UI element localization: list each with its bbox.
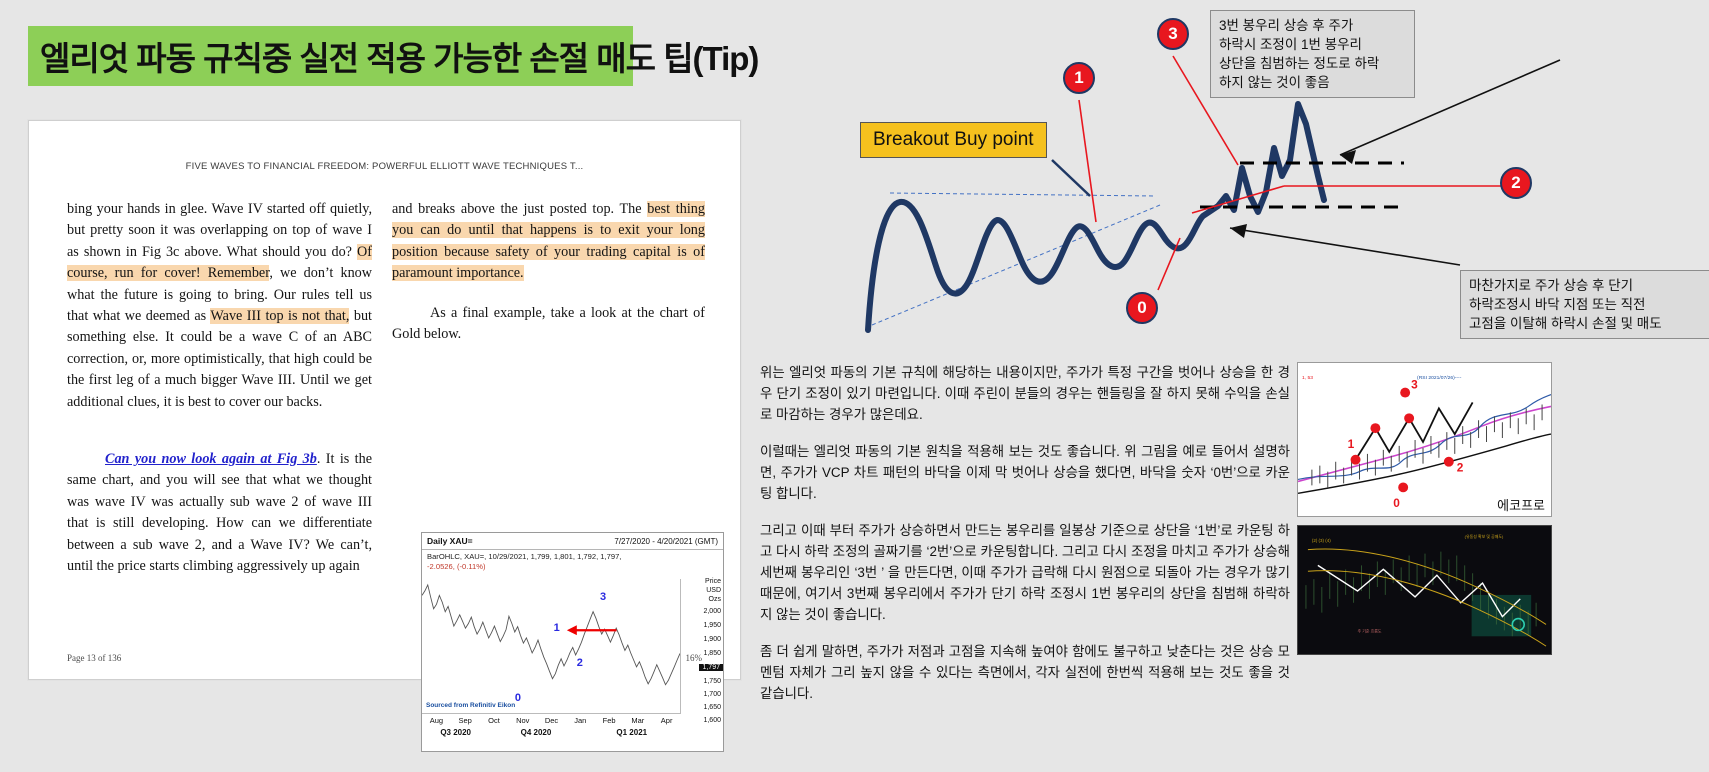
axis-unit-ozs: Ozs bbox=[709, 596, 721, 603]
ytick-1850: 1,850 bbox=[703, 650, 721, 657]
callout-arrow-bottom-head bbox=[1230, 224, 1247, 238]
elliott-wave-diagram: Breakout Buy point 1 3 0 2 3번 봉우리 상승 후 주… bbox=[760, 0, 1709, 355]
axis-unit-price: Price bbox=[705, 578, 721, 585]
kr-paragraph-4: 좀 더 쉽게 말하면, 주가가 저점과 고점을 지속해 높여야 함에도 불구하고… bbox=[760, 641, 1290, 704]
ytick-1900: 1,900 bbox=[703, 636, 721, 643]
svg-text:(2) (3) (4): (2) (3) (4) bbox=[1312, 538, 1331, 543]
chart-ohlc: BarOHLC, XAU=, 10/29/2021, 1,799, 1,801,… bbox=[427, 552, 718, 562]
document-column-right: and breaks above the just posted top. Th… bbox=[392, 199, 705, 345]
kr-paragraph-2: 이럴때는 엘리엇 파동의 기본 원칙을 적용해 보는 것도 좋습니다. 위 그림… bbox=[760, 441, 1290, 504]
chart-quote-line: BarOHLC, XAU=, 10/29/2021, 1,799, 1,801,… bbox=[422, 550, 723, 572]
breakout-buy-point-box: Breakout Buy point bbox=[860, 122, 1047, 158]
document-zoom-level: 16% bbox=[686, 653, 703, 663]
chart-month-ticks: Aug Sep Oct Nov Dec Jan Feb Mar Apr bbox=[422, 714, 681, 725]
chart-change: -2.0526, (-0.11%) bbox=[427, 562, 718, 572]
doc-left-p2: Can you now look again at Fig 3b. It is … bbox=[67, 449, 372, 577]
ytick-1600: 1,600 bbox=[703, 717, 721, 724]
ytick-1650: 1,650 bbox=[703, 704, 721, 711]
chart-quarter-ticks: Q3 2020 Q4 2020 Q1 2021 bbox=[422, 725, 681, 737]
axis-unit-usd: USD bbox=[706, 587, 721, 594]
svg-text:2: 2 bbox=[1457, 461, 1464, 475]
chart-title: Daily XAU= bbox=[427, 536, 473, 546]
svg-text:1: 1 bbox=[1348, 437, 1355, 451]
wave-badge-1: 1 bbox=[1063, 62, 1095, 94]
page-title-banner: 엘리엇 파동 규칙중 실전 적용 가능한 손절 매도 팁(Tip) bbox=[28, 26, 633, 86]
ytick-current: 1,797 bbox=[699, 664, 723, 671]
vcp-upper-trendline bbox=[890, 193, 1155, 196]
ytick-1950: 1,950 bbox=[703, 622, 721, 629]
kr-paragraph-1: 위는 엘리엇 파동의 기본 규칙에 해당하는 내용이지만, 주가가 특정 구간을… bbox=[760, 362, 1290, 425]
doc-right-p2: As a final example, take a look at the c… bbox=[392, 303, 705, 346]
chart-source: Sourced from Refinitiv Eikon bbox=[426, 702, 515, 709]
xtick-sep: Sep bbox=[451, 716, 480, 725]
ytick-1700: 1,700 bbox=[703, 691, 721, 698]
thumb2-svg: (2) (3) (4) (유동성 확보 및 공매도) 주 기준 흐름도 bbox=[1298, 526, 1551, 654]
xtick-oct: Oct bbox=[480, 716, 509, 725]
xtick-apr: Apr bbox=[652, 716, 681, 725]
xtick-q4-2020: Q4 2020 bbox=[489, 728, 582, 737]
wave-label-1: 1 bbox=[554, 622, 560, 634]
wave-badge-3: 3 bbox=[1157, 18, 1189, 50]
chart-x-axis: Aug Sep Oct Nov Dec Jan Feb Mar Apr Q3 2… bbox=[422, 713, 681, 751]
wave-label-3: 3 bbox=[600, 591, 606, 603]
document-page: FIVE WAVES TO FINANCIAL FREEDOM: POWERFU… bbox=[28, 120, 741, 680]
thumbnail-chart-dark[interactable]: (2) (3) (4) (유동성 확보 및 공매도) 주 기준 흐름도 bbox=[1297, 525, 1552, 655]
wave-label-2: 2 bbox=[577, 657, 583, 669]
document-page-number: Page 13 of 136 bbox=[67, 653, 121, 663]
korean-explanation-text: 위는 엘리엇 파동의 기본 규칙에 해당하는 내용이지만, 주가가 특정 구간을… bbox=[760, 362, 1290, 720]
xtick-feb: Feb bbox=[595, 716, 624, 725]
breakout-buy-point-label: Breakout Buy point bbox=[873, 129, 1034, 150]
svg-text:주 기준 흐름도: 주 기준 흐름도 bbox=[1358, 628, 1382, 633]
ytick-2000: 2,000 bbox=[703, 608, 721, 615]
xtick-jan: Jan bbox=[566, 716, 595, 725]
wave-badge-0: 0 bbox=[1126, 292, 1158, 324]
chart-plot-area: 0 1 2 3 bbox=[422, 579, 681, 713]
page-title: 엘리엇 파동 규칙중 실전 적용 가능한 손절 매도 팁(Tip) bbox=[28, 32, 758, 80]
xtick-q1-2021: Q1 2021 bbox=[583, 728, 681, 737]
xtick-q3-2020: Q3 2020 bbox=[422, 728, 489, 737]
doc-left-p1a: bing your hands in glee. Wave IV started… bbox=[67, 201, 372, 260]
xtick-dec: Dec bbox=[537, 716, 566, 725]
xtick-mar: Mar bbox=[623, 716, 652, 725]
callout-top-text: 3번 봉우리 상승 후 주가 하락시 조정이 1번 봉우리 상단을 침범하는 정… bbox=[1210, 10, 1415, 98]
chart-price-line bbox=[422, 579, 680, 713]
svg-text:(유동성 확보 및 공매도): (유동성 확보 및 공매도) bbox=[1465, 534, 1504, 539]
chart-price-axis: Price USD Ozs 2,000 1,950 1,900 1,850 1,… bbox=[681, 579, 723, 713]
svg-text:1, 53: 1, 53 bbox=[1302, 375, 1313, 381]
figure-3b-link[interactable]: Can you now look again at Fig 3b bbox=[105, 451, 317, 467]
connector-1 bbox=[1079, 100, 1096, 222]
xtick-aug: Aug bbox=[422, 716, 451, 725]
thumb1-svg: 1 3 2 0 1, 53 (RSI 2021/07/26)---- bbox=[1298, 363, 1551, 516]
doc-left-highlight-2: Wave III top is not that, bbox=[210, 308, 349, 324]
breakout-leader bbox=[1052, 160, 1090, 196]
callout-bottom-text: 마찬가지로 주가 상승 후 단기 하락조정시 바닥 지점 또는 직전 고점을 이… bbox=[1460, 270, 1709, 339]
ytick-1750: 1,750 bbox=[703, 678, 721, 685]
wave-label-0: 0 bbox=[515, 692, 521, 704]
callout-arrow-bottom bbox=[1230, 228, 1460, 265]
svg-text:0: 0 bbox=[1393, 496, 1400, 510]
paragraph-gap bbox=[67, 413, 372, 431]
document-running-head: FIVE WAVES TO FINANCIAL FREEDOM: POWERFU… bbox=[29, 161, 740, 172]
chart-date-range: 7/27/2020 - 4/20/2021 (GMT) bbox=[614, 537, 718, 546]
svg-text:(RSI 2021/07/26)----: (RSI 2021/07/26)---- bbox=[1417, 375, 1462, 381]
chart-arrow-annotation bbox=[567, 625, 617, 635]
wave-badge-2: 2 bbox=[1500, 167, 1532, 199]
doc-right-p1a: and breaks above the just posted top. Th… bbox=[392, 201, 647, 217]
kr-paragraph-3: 그리고 이때 부터 주가가 상승하면서 만드는 봉우리를 일봉상 기준으로 상단… bbox=[760, 520, 1290, 625]
doc-left-p2-rest: . It is the same chart, and you will see… bbox=[67, 451, 372, 574]
xtick-nov: Nov bbox=[508, 716, 537, 725]
thumbnail-chart-ecopro[interactable]: 1 3 2 0 1, 53 (RSI 2021/07/26)---- 에코프로 bbox=[1297, 362, 1552, 517]
chart-titlebar: Daily XAU= 7/27/2020 - 4/20/2021 (GMT) bbox=[422, 533, 723, 550]
document-column-left: bing your hands in glee. Wave IV started… bbox=[67, 199, 372, 578]
thumbnail-caption-ecopro: 에코프로 bbox=[1497, 495, 1545, 514]
xau-gold-chart: Daily XAU= 7/27/2020 - 4/20/2021 (GMT) B… bbox=[421, 532, 724, 752]
